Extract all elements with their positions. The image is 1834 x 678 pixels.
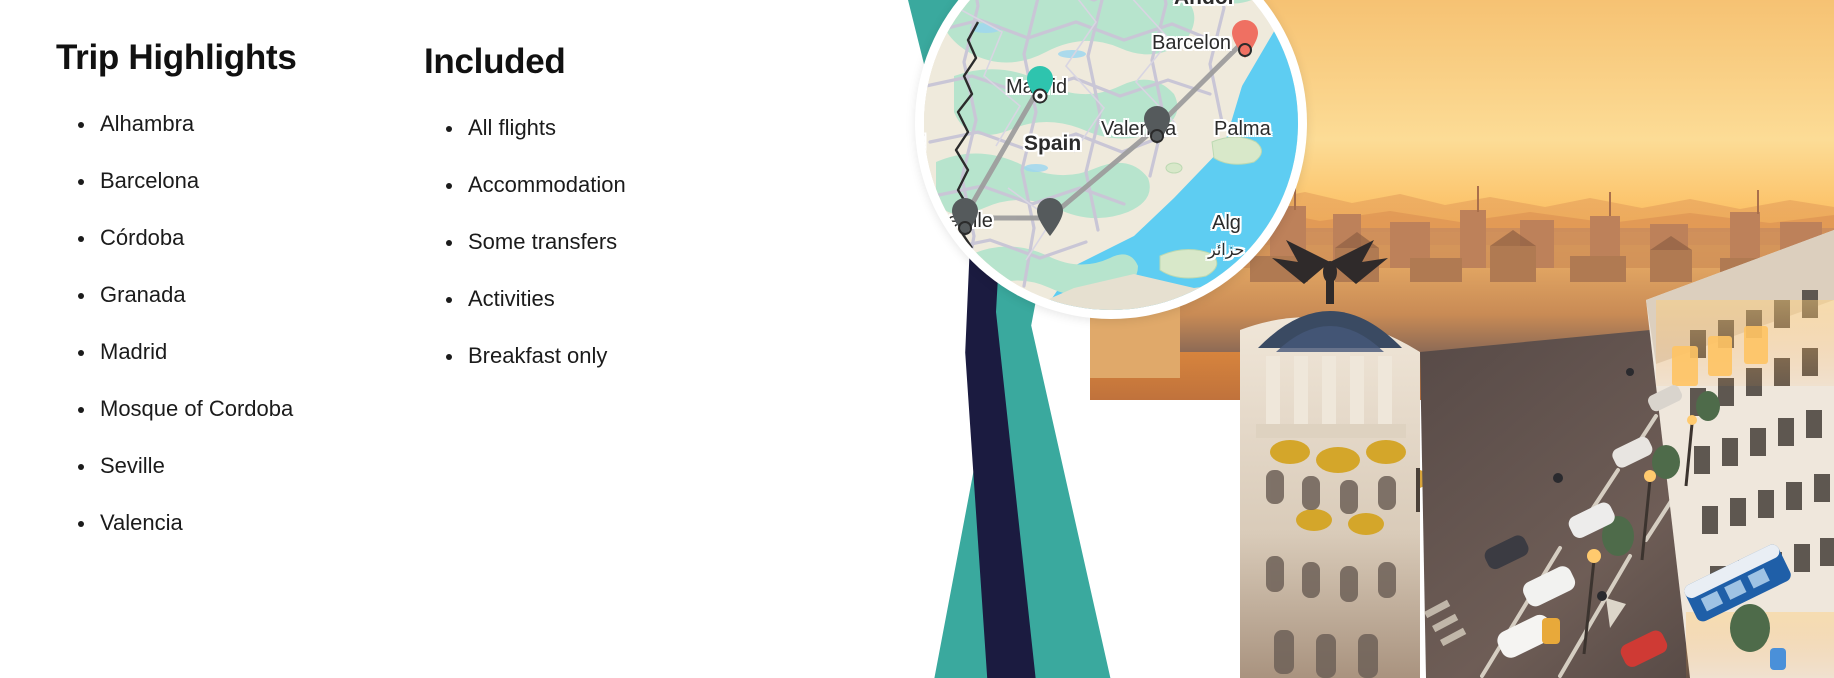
list-item: Córdoba [56,227,416,249]
map-pin-seville[interactable] [952,198,978,236]
map-pin-barcelona[interactable] [1232,20,1258,58]
column-included: Included All flights Accommodation Some … [424,0,804,367]
list-item: Madrid [56,341,416,363]
trip-highlights-title: Trip Highlights [56,38,416,78]
list-item: Alhambra [56,113,416,135]
list-item: Activities [424,288,804,310]
route-map[interactable]: Andor Barcelon Madrid Valencia Palma Spa… [924,0,1298,310]
map-pin-valencia[interactable] [1144,106,1170,144]
list-item: Breakfast only [424,345,804,367]
list-item: Seville [56,455,416,477]
list-item: Accommodation [424,174,804,196]
list-item: All flights [424,117,804,139]
list-item: Valencia [56,512,416,534]
included-title: Included [424,42,804,82]
trip-highlights-list: Alhambra Barcelona Córdoba Granada Madri… [56,113,416,534]
column-trip-highlights: Trip Highlights Alhambra Barcelona Córdo… [56,0,416,534]
content-columns: Trip Highlights Alhambra Barcelona Córdo… [0,0,840,678]
list-item: Mosque of Cordoba [56,398,416,420]
route-map-bubble[interactable]: Andor Barcelon Madrid Valencia Palma Spa… [915,0,1307,319]
trip-info-panel: Trip Highlights Alhambra Barcelona Córdo… [0,0,1834,678]
list-item: Some transfers [424,231,804,253]
map-pin-madrid[interactable] [1027,66,1053,104]
hero-artwork: Andor Barcelon Madrid Valencia Palma Spa… [820,0,1834,678]
list-item: Barcelona [56,170,416,192]
map-pin-granada[interactable] [1037,198,1063,236]
included-list: All flights Accommodation Some transfers… [424,117,804,367]
list-item: Granada [56,284,416,306]
